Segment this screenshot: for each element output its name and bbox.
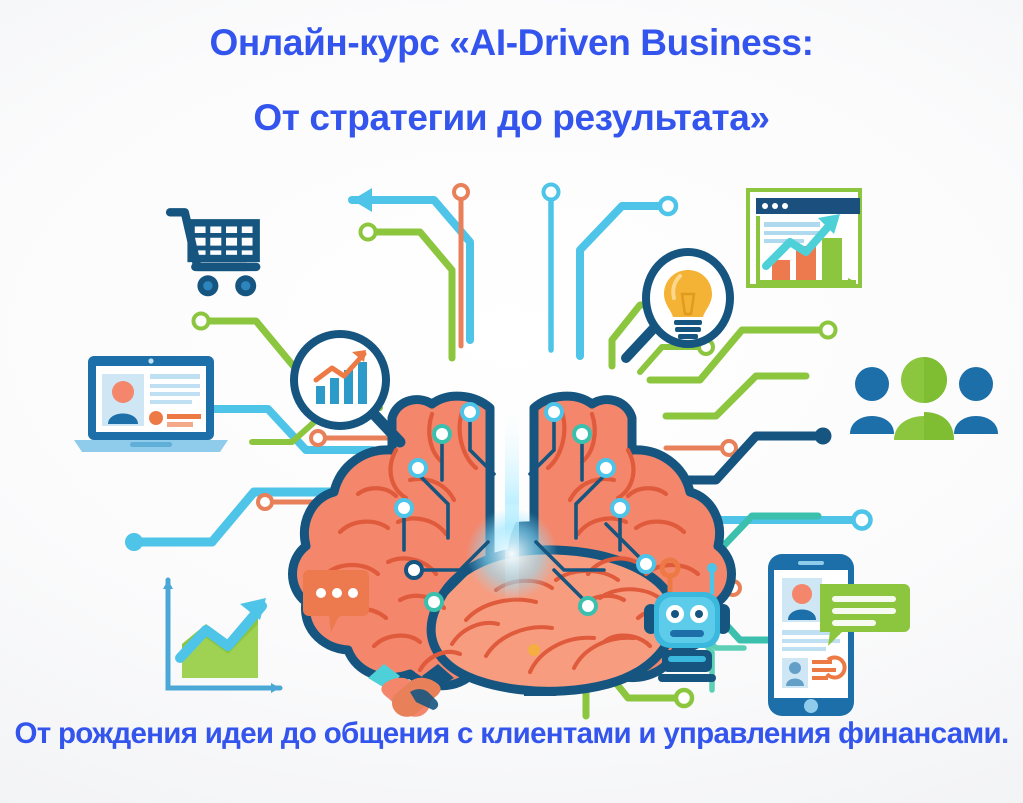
growth-chart-icon — [163, 580, 280, 693]
title-line-2: От стратегии до результата» — [0, 99, 1023, 136]
ai-brain-network-illustration — [0, 150, 1023, 730]
smartphone-chat-icon — [768, 554, 910, 716]
circuit-orange-left-1 — [311, 431, 396, 445]
circuit-orange-right-1 — [666, 441, 736, 455]
circuit-orange-vert-1 — [454, 185, 468, 346]
brain-core-glow — [466, 508, 558, 600]
brain-dot-accent — [528, 644, 540, 656]
laptop-profile-icon — [74, 356, 228, 452]
people-group-icon — [850, 357, 998, 440]
shopping-cart-icon — [170, 212, 256, 296]
circuit-green-topleft — [361, 225, 453, 359]
circuit-teal-bulb — [600, 250, 612, 268]
dashboard-window-icon — [748, 190, 860, 286]
circuit-blue-vert-1 — [544, 185, 559, 351]
page-title: Онлайн-курс «AI-Driven Business: От стра… — [0, 24, 1023, 136]
title-line-1: Онлайн-курс «AI-Driven Business: — [0, 24, 1023, 61]
slide-root: Онлайн-курс «AI-Driven Business: От стра… — [0, 0, 1023, 803]
